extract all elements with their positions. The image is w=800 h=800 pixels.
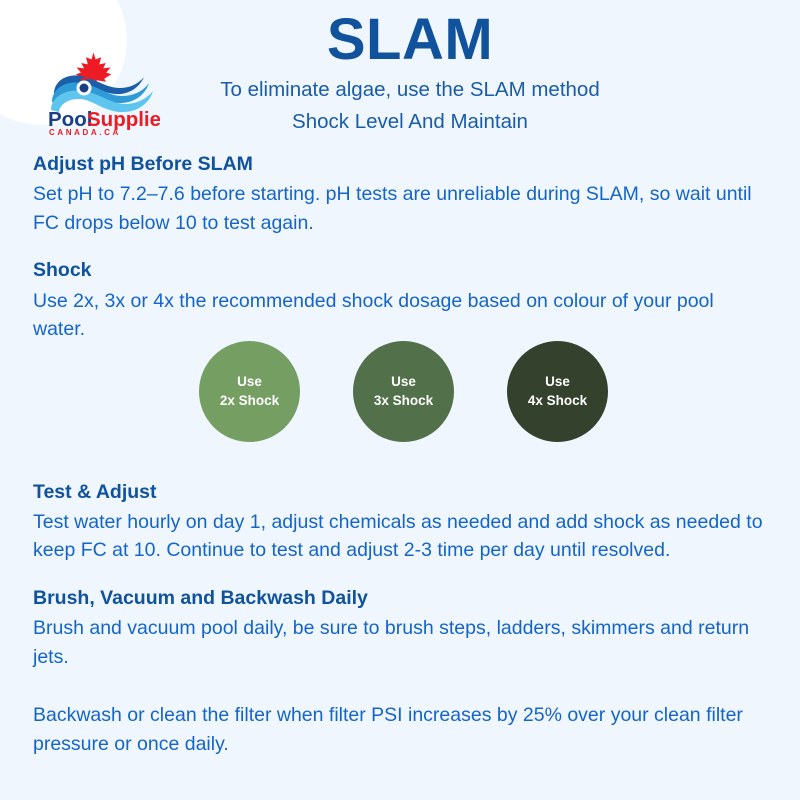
- section-adjust-ph-body: Set pH to 7.2–7.6 before starting. pH te…: [33, 180, 769, 237]
- section-brush-vacuum-heading: Brush, Vacuum and Backwash Daily: [33, 586, 769, 610]
- section-adjust-ph-heading: Adjust pH Before SLAM: [33, 152, 769, 176]
- section-shock: Shock Use 2x, 3x or 4x the recommended s…: [33, 258, 769, 343]
- circles-spacer: [33, 344, 769, 480]
- header-block: SLAM To eliminate algae, use the SLAM me…: [150, 8, 670, 136]
- logo-word-domain: CANADA.CA: [49, 128, 121, 136]
- content-body: Adjust pH Before SLAM Set pH to 7.2–7.6 …: [33, 152, 769, 758]
- section-brush-vacuum-body: Brush and vacuum pool daily, be sure to …: [33, 614, 769, 671]
- infographic-canvas: Pool Supplies CANADA.CA SLAM To eliminat…: [0, 0, 800, 800]
- page-title: SLAM: [150, 8, 670, 72]
- section-adjust-ph: Adjust pH Before SLAM Set pH to 7.2–7.6 …: [33, 152, 769, 237]
- section-test-adjust-body: Test water hourly on day 1, adjust chemi…: [33, 508, 769, 565]
- section-brush-vacuum: Brush, Vacuum and Backwash Daily Brush a…: [33, 586, 769, 671]
- section-shock-body: Use 2x, 3x or 4x the recommended shock d…: [33, 287, 769, 344]
- closing-paragraph: Backwash or clean the filter when filter…: [33, 701, 769, 758]
- section-test-adjust: Test & Adjust Test water hourly on day 1…: [33, 480, 769, 565]
- poolsuppliescanada-logo: Pool Supplies CANADA.CA: [48, 50, 160, 136]
- page-subtitle-line1: To eliminate algae, use the SLAM method: [150, 76, 670, 104]
- section-shock-heading: Shock: [33, 258, 769, 282]
- section-test-adjust-heading: Test & Adjust: [33, 480, 769, 504]
- page-subtitle-line2: Shock Level And Maintain: [150, 108, 670, 136]
